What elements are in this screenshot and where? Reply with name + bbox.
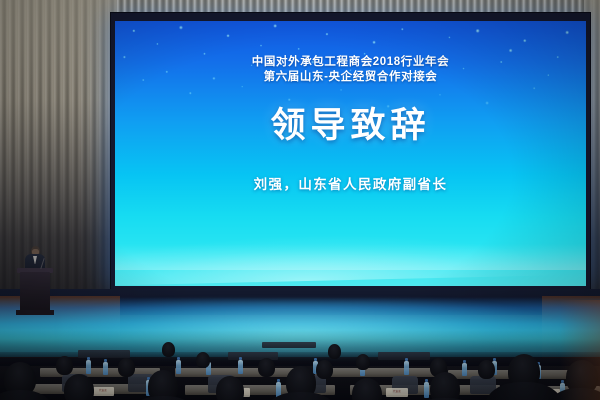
led-screen-frame: 中国对外承包工程商会2018行业年会 第六届山东-央企经贸合作对接会 领导致辞 … [110,12,591,291]
podium [20,272,50,314]
stage-curtain-left [0,0,116,330]
slide-header-line-2: 第六届山东-央企经贸合作对接会 [115,70,586,85]
name-card-text: 代表席 [92,388,114,392]
side-wall-light [560,300,600,400]
slide-text-block: 中国对外承包工程商会2018行业年会 第六届山东-央企经贸合作对接会 领导致辞 … [115,21,586,193]
audience-head [216,376,244,400]
water-bottle [238,360,243,374]
audience-shoulders [130,396,196,400]
water-bottle [86,360,91,374]
audience-head [56,356,73,375]
table-row [315,368,435,377]
name-card-text: 代表席 [386,389,408,393]
audience-head [118,358,135,377]
audience-head [258,358,275,377]
conference-hall-screenshot: 中国对外承包工程商会2018行业年会 第六届山东-央企经贸合作对接会 领导致辞 … [0,0,600,400]
table-row [378,352,430,360]
audience-head [316,360,333,379]
water-bottle [462,363,467,376]
podium-base [16,310,54,315]
audience-head [196,352,210,368]
audience-head [162,342,175,357]
name-card: 代表席 [92,387,114,396]
audience-head [478,360,495,379]
audience-head [352,378,382,400]
table-row [78,350,130,358]
audience-head [356,354,370,370]
slide-main-title: 领导致辞 [115,97,586,148]
water-bottle [404,361,409,375]
screen-bottom-glow [115,244,586,271]
water-bottle [103,362,108,375]
table-row [262,342,316,348]
slide-speaker-credit: 刘强，山东省人民政府副省长 [115,173,586,193]
audience-head [64,374,94,400]
name-card: 代表席 [386,388,408,397]
water-bottle [176,360,181,374]
water-bottle [424,382,429,398]
audience-head [328,344,341,359]
led-screen-display: 中国对外承包工程商会2018行业年会 第六届山东-央企经贸合作对接会 领导致辞 … [115,21,586,286]
slide-header-line-1: 中国对外承包工程商会2018行业年会 [115,55,586,70]
audience-head [430,372,460,400]
audience-area: 代表席 代表席 代表席 代表席 [0,330,600,400]
